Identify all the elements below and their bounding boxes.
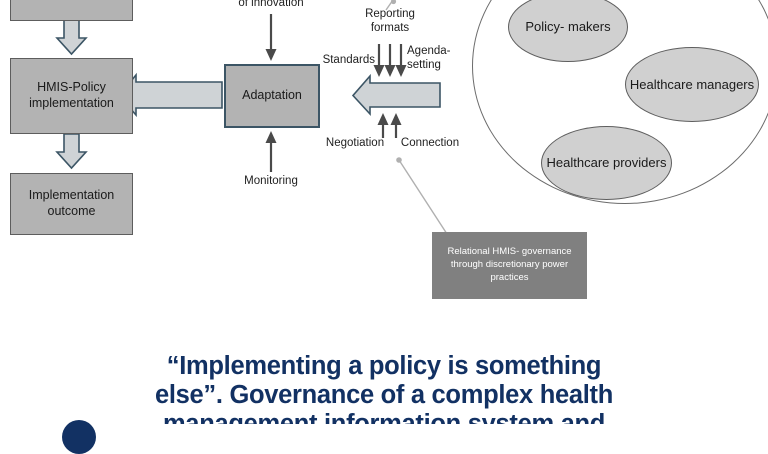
thin-arrow-innovation [266,14,277,61]
label-monitoring: Monitoring [221,175,321,189]
thin-arrow-monitoring [266,131,277,172]
callout-relational-governance[interactable]: Relational HMIS- governance through disc… [432,232,587,299]
box-hmis-policy-implementation-label: HMIS-Policy implementation [15,80,128,111]
label-of-innovation: of innovation [221,0,321,11]
box-adaptation-label: Adaptation [242,88,302,104]
page-title: “Implementing a policy is something else… [0,352,768,424]
label-standards: Standards [313,54,375,68]
page-title-line-2: else”. Governance of a complex health [0,381,768,410]
actor-healthcare-providers-label: Healthcare providers [547,155,667,171]
block-arrow-left-adaptation [119,75,222,115]
thin-arrows-up-governance [378,113,402,138]
actor-healthcare-managers[interactable]: Healthcare managers [625,47,759,122]
label-agenda-setting: Agenda- setting [407,45,461,73]
page-title-line-1: “Implementing a policy is something [0,352,768,381]
box-top-cut [10,0,133,21]
block-arrow-down-top [57,20,86,54]
box-adaptation[interactable]: Adaptation [224,64,320,128]
actor-healthcare-providers[interactable]: Healthcare providers [541,126,672,200]
label-negotiation: Negotiation [320,137,390,151]
label-reporting-formats: Reporting formats [355,8,425,36]
callout-leader-line [396,157,447,234]
box-implementation-outcome[interactable]: Implementation outcome [10,173,133,235]
callout-text: Relational HMIS- governance through disc… [438,246,581,284]
label-connection: Connection [394,137,466,151]
thin-arrows-down-governance [374,44,407,77]
box-hmis-policy-implementation[interactable]: HMIS-Policy implementation [10,58,133,134]
diagram-canvas: HMIS-Policy implementation Implementatio… [0,0,768,432]
box-implementation-outcome-label: Implementation outcome [15,188,128,219]
title-bullet-dot [62,420,96,454]
block-arrow-left-governance [353,76,440,114]
page-title-line-3: management information system and [0,410,768,424]
actor-policy-makers-label: Policy- makers [525,19,610,35]
actor-healthcare-managers-label: Healthcare managers [630,77,754,93]
block-arrow-down-outcome [57,134,86,168]
